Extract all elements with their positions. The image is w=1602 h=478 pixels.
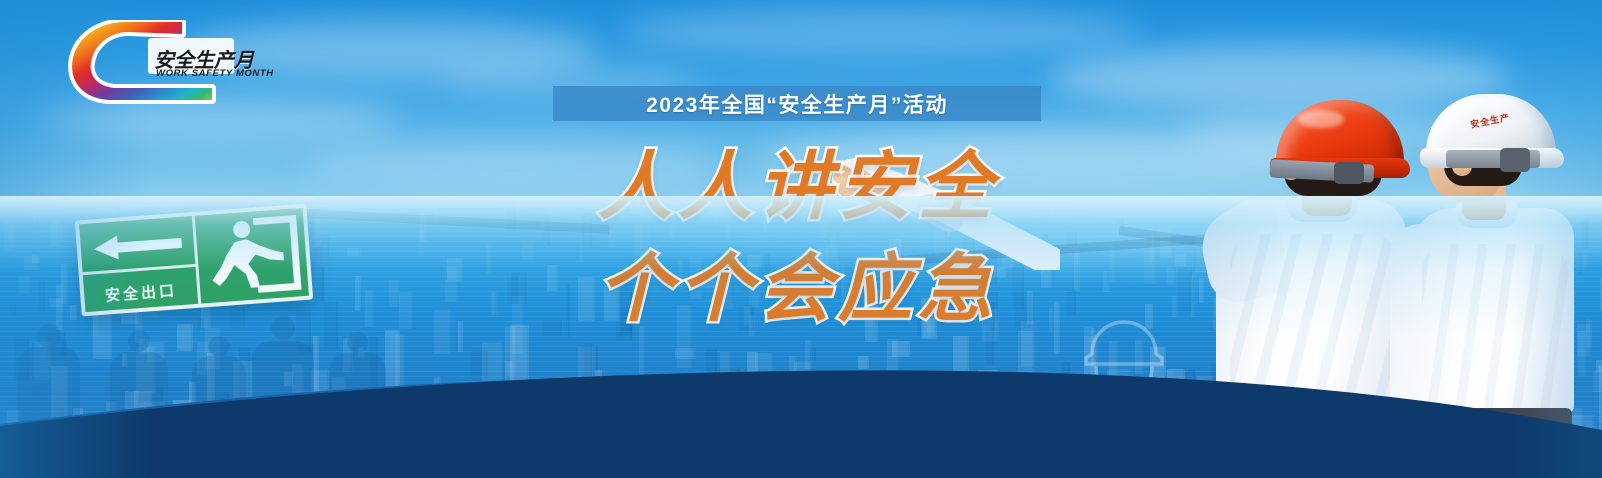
cloud-decoration [620,6,1140,58]
work-safety-month-logo: 安全生产月 WORK SAFETY MONTH [62,20,238,106]
cloud-decoration [1050,44,1510,110]
headline-line-2: 个个会应急 [548,252,1048,326]
wave-front-layer [0,348,1602,478]
headline-line-1: 人人讲安全 [548,150,1048,224]
campaign-subtitle-bar: 2023年全国“安全生产月”活动 [553,86,1041,121]
red-helmet-highlight [1298,110,1344,128]
exit-sign-face: 安全出口 [79,208,309,312]
helmet-buckle [1334,162,1364,184]
campaign-subtitle-text: 2023年全国“安全生产月”活动 [646,89,948,119]
logo-english-text: WORK SAFETY MONTH [156,68,274,79]
left-arrow-icon [91,229,185,264]
exit-sign-arrow-area [79,220,196,275]
white-helmet-buckle [1500,148,1530,172]
running-person-door-icon [195,208,309,304]
exit-sign-right-panel [195,208,309,304]
work-safety-month-banner: 安全出口 [0,0,1602,478]
